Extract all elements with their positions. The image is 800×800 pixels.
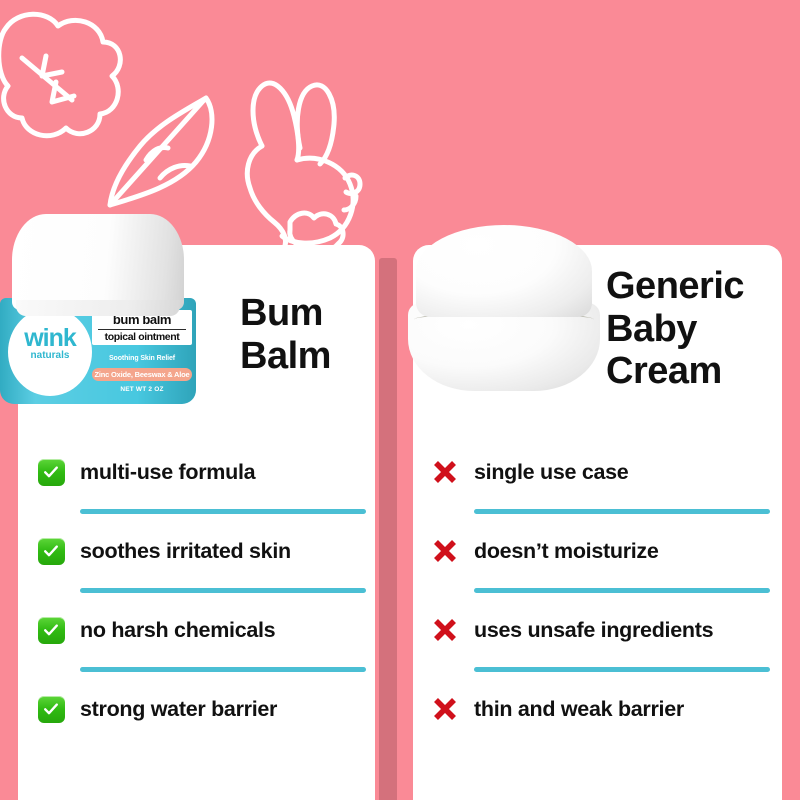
bunny-doodle: [247, 83, 360, 250]
title-line: Generic: [606, 265, 786, 308]
check-icon: [36, 538, 66, 565]
feature-divider: [80, 667, 366, 672]
feature-text: doesn’t moisturize: [474, 539, 659, 564]
label-ingredients: Zinc Oxide, Beeswax & Aloe: [92, 368, 192, 381]
label-divider: [98, 329, 186, 330]
feather-doodle: [110, 98, 212, 205]
label-product-type: topical ointment: [94, 332, 190, 343]
generic-jar-lid: [416, 225, 592, 317]
feature-text: no harsh chemicals: [80, 618, 275, 643]
feature-divider: [80, 509, 366, 514]
feature-row: soothes irritated skin: [36, 531, 366, 571]
feature-row: uses unsafe ingredients: [430, 610, 770, 650]
cloud-doodle: [0, 14, 120, 135]
x-icon: [430, 615, 460, 645]
label-net-weight: NET WT 2 OZ: [92, 386, 192, 393]
feature-row: strong water barrier: [36, 689, 366, 729]
feature-divider: [80, 588, 366, 593]
label-tagline: Soothing Skin Relief: [92, 355, 192, 362]
comparison-graphic: wink naturals bum balm topical ointment …: [0, 0, 800, 800]
product-title-wink: Bum Balm: [240, 292, 370, 377]
generic-baby-cream-jar-image: [408, 225, 600, 395]
brand-name: wink: [10, 326, 90, 351]
feature-text: single use case: [474, 460, 628, 485]
feature-divider: [474, 509, 770, 514]
feature-text: uses unsafe ingredients: [474, 618, 713, 643]
feature-divider: [474, 667, 770, 672]
wink-bum-balm-jar-image: wink naturals bum balm topical ointment …: [0, 214, 202, 406]
title-line: Cream: [606, 350, 786, 393]
feature-text: strong water barrier: [80, 697, 277, 722]
feature-text: thin and weak barrier: [474, 697, 684, 722]
feature-row: no harsh chemicals: [36, 610, 366, 650]
title-line: Bum: [240, 292, 370, 335]
check-icon: [36, 696, 66, 723]
product-title-generic: Generic Baby Cream: [606, 265, 786, 393]
feature-divider: [474, 588, 770, 593]
x-icon: [430, 457, 460, 487]
card-gap-shadow: [379, 258, 397, 800]
x-icon: [430, 536, 460, 566]
feature-row: multi-use formula: [36, 452, 366, 492]
feature-row: thin and weak barrier: [430, 689, 770, 729]
check-icon: [36, 617, 66, 644]
feature-list-wink: multi-use formula soothes irritated skin…: [36, 452, 366, 729]
x-icon: [430, 694, 460, 724]
title-line: Balm: [240, 335, 370, 378]
feature-row: doesn’t moisturize: [430, 531, 770, 571]
jar-lid: [12, 214, 184, 310]
check-icon: [36, 459, 66, 486]
feature-row: single use case: [430, 452, 770, 492]
feature-text: multi-use formula: [80, 460, 255, 485]
title-line: Baby: [606, 308, 786, 351]
feature-text: soothes irritated skin: [80, 539, 291, 564]
feature-list-generic: single use case doesn’t moisturize uses …: [430, 452, 770, 729]
brand-tagline: naturals: [10, 351, 90, 361]
